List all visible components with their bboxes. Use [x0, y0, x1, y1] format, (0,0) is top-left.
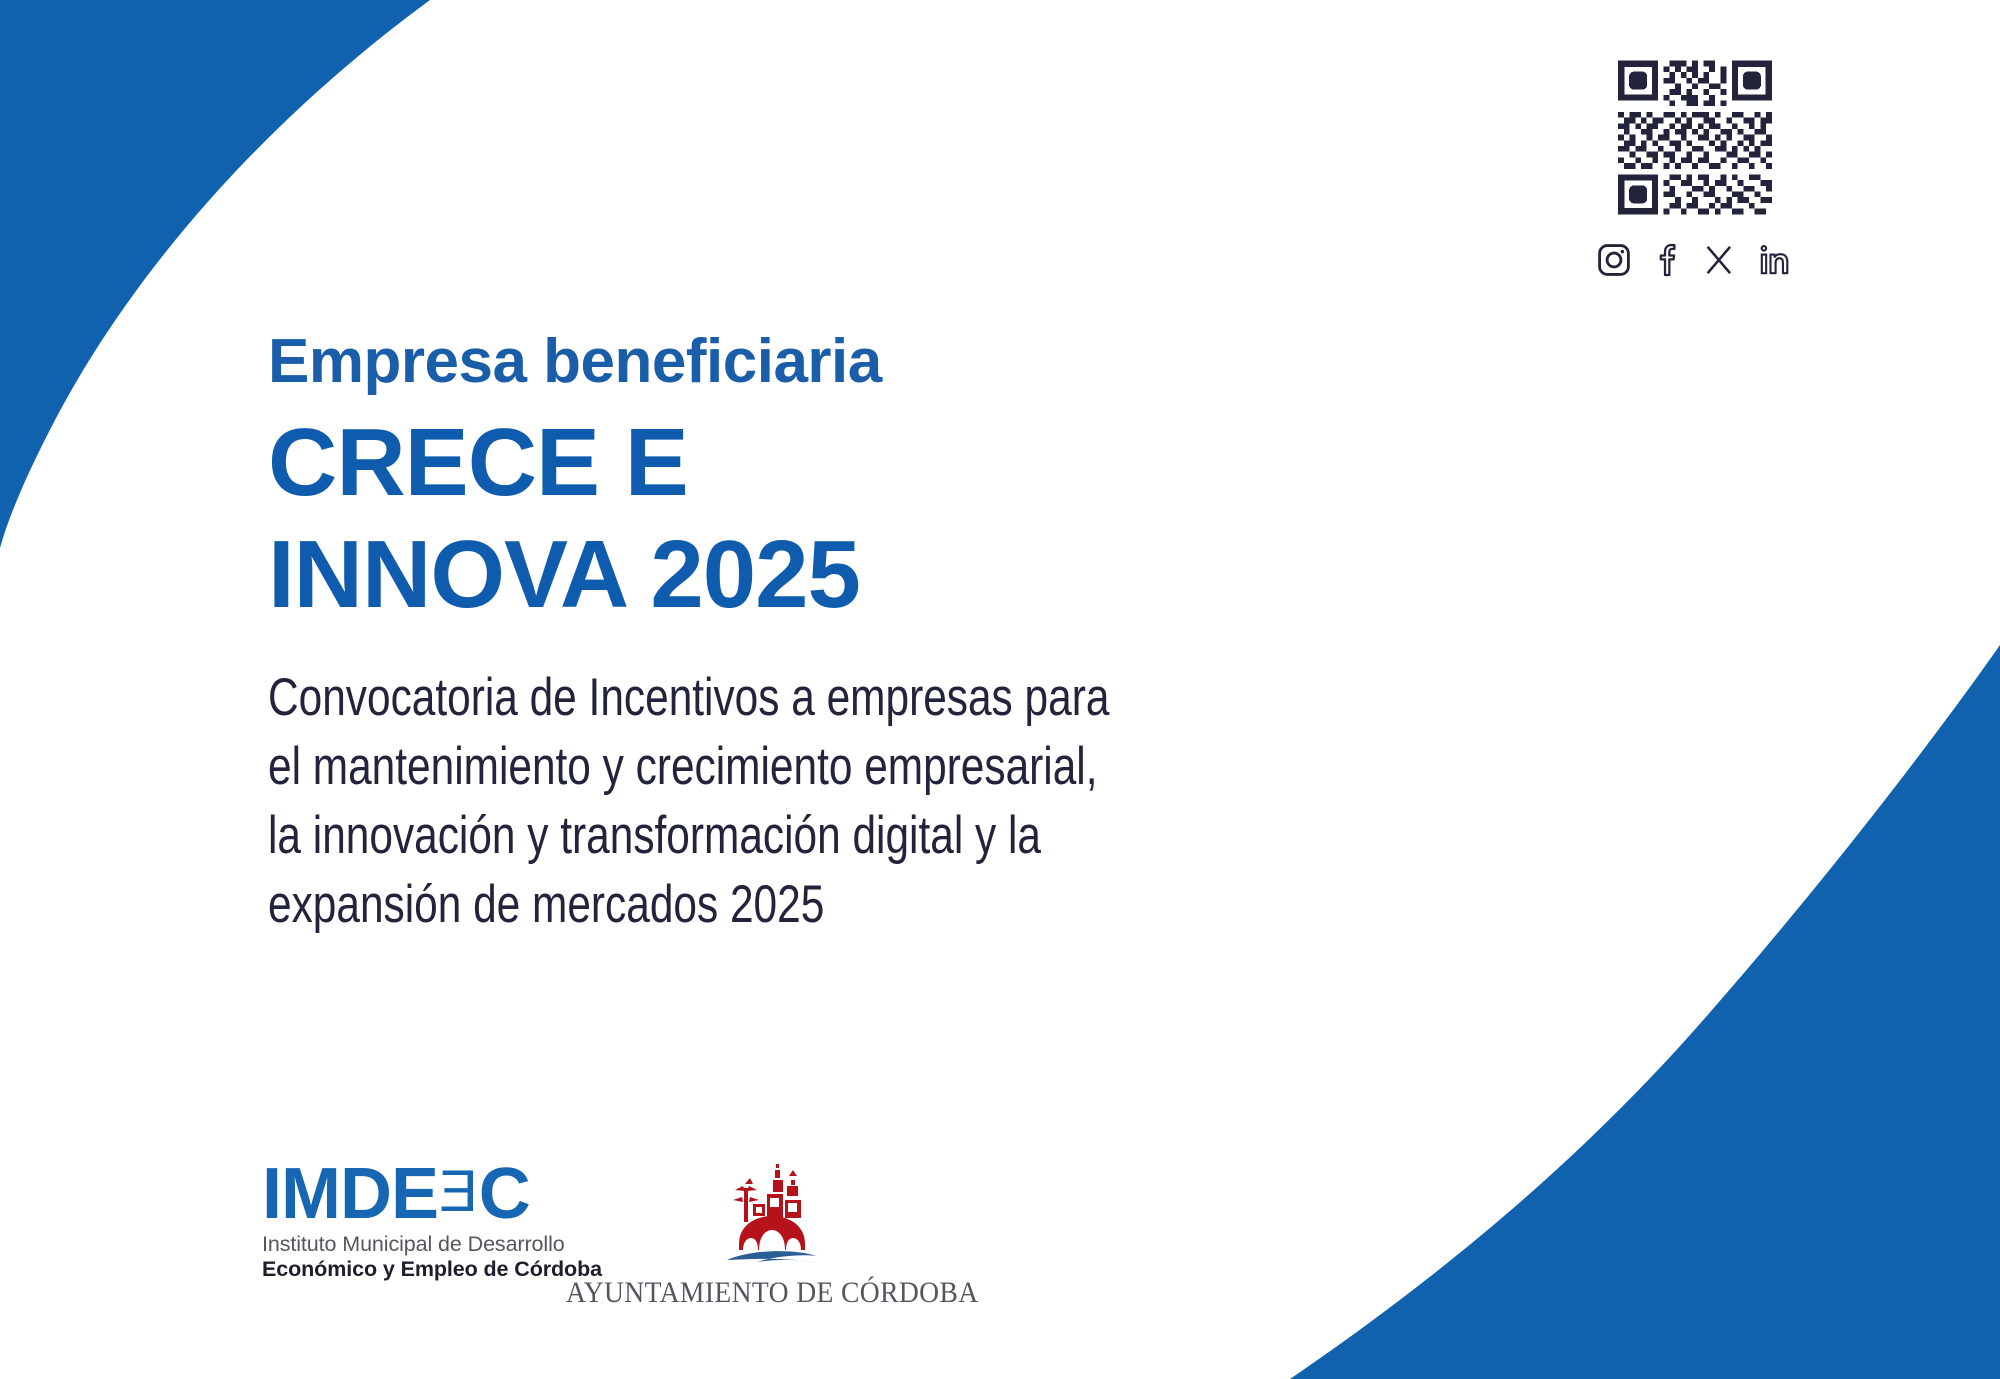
cordoba-crest-icon	[717, 1164, 827, 1272]
x-icon[interactable]	[1704, 242, 1734, 278]
body-line-2: el mantenimiento y crecimiento empresari…	[268, 733, 1388, 802]
logo-row: IMDE E C Instituto Municipal de Desarrol…	[262, 1160, 922, 1310]
imdeec-wordmark: IMDE E C	[262, 1160, 562, 1228]
imdeec-mark-part1: IMDE	[262, 1160, 438, 1228]
instagram-icon[interactable]	[1596, 242, 1632, 278]
poster-canvas: Empresa beneficiaria CRECE E INNOVA 2025…	[0, 0, 2000, 1379]
imdeec-tagline-line1: Instituto Municipal de Desarrollo	[262, 1232, 562, 1257]
headline: CRECE E INNOVA 2025	[268, 407, 1388, 630]
ayuntamiento-logo: AYUNTAMIENTO DE CÓRDOBA	[622, 1160, 922, 1310]
eyebrow-text: Empresa beneficiaria	[268, 330, 1388, 393]
imdeec-tagline: Instituto Municipal de Desarrollo Económ…	[262, 1232, 562, 1282]
imdeec-mark-part2: C	[479, 1160, 530, 1228]
headline-line-2: INNOVA 2025	[268, 519, 1388, 630]
body-line-4: expansión de mercados 2025	[268, 871, 1388, 940]
imdeec-tagline-line2: Económico y Empleo de Córdoba	[262, 1257, 562, 1282]
body-line-3: la innovación y transformación digital y…	[268, 802, 1388, 871]
ayuntamiento-name: AYUNTAMIENTO DE CÓRDOBA	[566, 1276, 979, 1310]
body-line-1: Convocatoria de Incentivos a empresas pa…	[268, 664, 1388, 733]
imdeec-logo: IMDE E C Instituto Municipal de Desarrol…	[262, 1160, 562, 1282]
body-copy: Convocatoria de Incentivos a empresas pa…	[268, 664, 1388, 940]
qr-block	[1590, 55, 1800, 278]
main-text-column: Empresa beneficiaria CRECE E INNOVA 2025…	[268, 330, 1388, 940]
headline-line-1: CRECE E	[268, 407, 1388, 518]
linkedin-icon[interactable]	[1758, 242, 1792, 278]
imdeec-reversed-e-icon: E	[440, 1164, 478, 1219]
social-links	[1590, 242, 1800, 278]
bottom-right-wedge	[1290, 645, 2000, 1379]
facebook-icon[interactable]	[1656, 242, 1680, 278]
qr-code[interactable]	[1590, 55, 1800, 220]
